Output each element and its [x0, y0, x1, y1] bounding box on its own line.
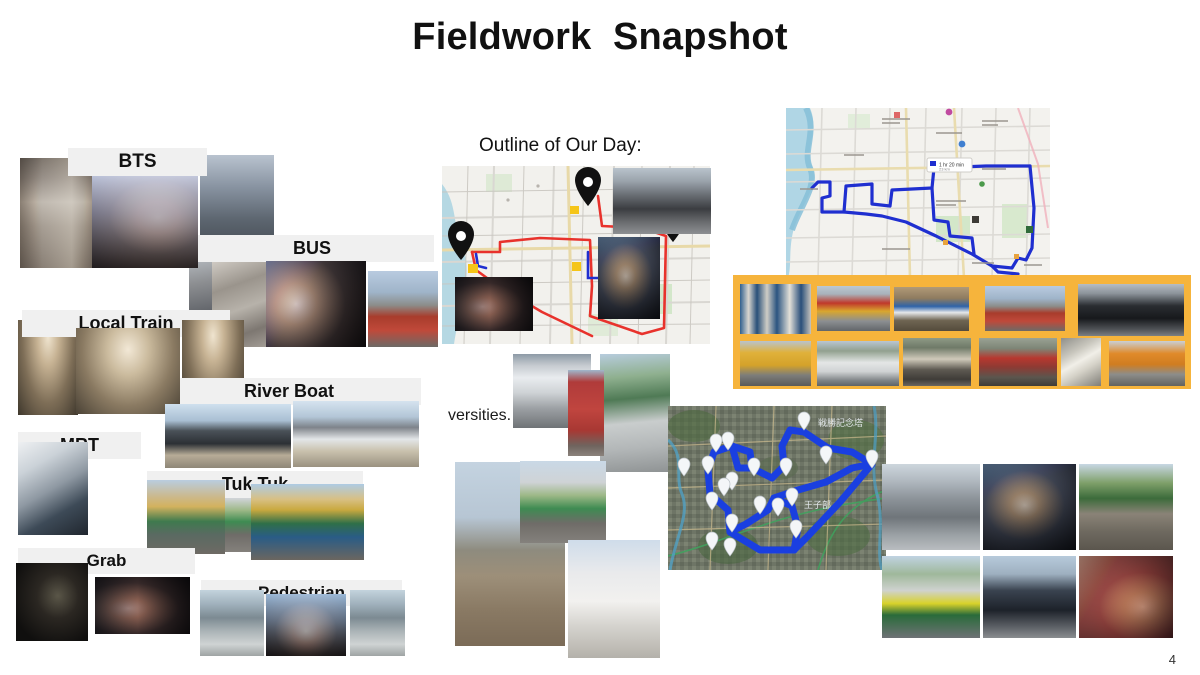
poster-photo-9	[979, 338, 1057, 386]
photo-route-motorbike	[598, 237, 660, 319]
grid-photo-r1c2	[983, 464, 1076, 550]
satellite-annotation-2: 王子部	[804, 499, 831, 511]
poster-photo-3	[894, 287, 969, 331]
bangkok-route-map-graphic: 1 hr 20 min 23 km	[786, 108, 1050, 278]
grid-photo-r2c2	[983, 556, 1076, 638]
photo-route-tuktuk	[455, 277, 533, 331]
photo-pedestrian-bridge	[350, 590, 405, 656]
bangkok-route-map: 1 hr 20 min 23 km	[786, 108, 1050, 278]
poster-photo-8	[903, 338, 971, 386]
photo-pedestrian-skywalk	[200, 590, 264, 656]
photo-bus-selfie	[266, 261, 366, 347]
satellite-route-map-graphic: 戦勝記念塔 王子部	[668, 406, 886, 570]
satellite-route-map: 戦勝記念塔 王子部	[668, 406, 886, 570]
photo-grab-night	[16, 563, 88, 641]
text-fragment: versities.	[448, 407, 511, 425]
label-bus: BUS	[190, 235, 434, 262]
poster-photo-5	[1078, 284, 1184, 336]
photo-center-tukpark	[520, 461, 606, 543]
label-river-boat-text: River Boat	[244, 381, 334, 402]
vehicle-type-poster	[733, 275, 1191, 389]
poster-photo-7	[817, 341, 899, 386]
poster-photo-6	[740, 341, 811, 386]
photo-center-gate	[568, 540, 660, 658]
grid-photo-r2c1	[882, 556, 980, 638]
label-bus-text: BUS	[293, 238, 331, 259]
label-bts: BTS	[68, 148, 207, 176]
satellite-annotation-1: 戦勝記念塔	[818, 417, 863, 429]
page-title: Fieldwork Snapshot	[0, 16, 1200, 59]
duration-badge: 1 hr 20 min 23 km	[927, 158, 972, 172]
photo-center-redwall	[568, 370, 604, 456]
grid-photo-r2c3	[1079, 556, 1173, 638]
poster-photo-4	[985, 286, 1065, 331]
photo-riverboat-left	[165, 404, 291, 468]
photo-grab-riders	[95, 577, 190, 634]
label-bts-text: BTS	[119, 151, 157, 173]
photo-bts-selfie	[92, 176, 198, 268]
label-grab-text: Grab	[87, 551, 127, 571]
slide-canvas: Fieldwork Snapshot BTS BUS Local Train R…	[0, 0, 1200, 675]
grid-photo-r1c3	[1079, 464, 1173, 550]
poster-photo-2	[817, 286, 890, 331]
grid-photo-r1c1	[882, 464, 980, 550]
poster-photo-1	[740, 284, 811, 334]
photo-bus-red	[368, 271, 438, 347]
photo-route-station	[613, 168, 711, 234]
photo-center-bridge	[600, 354, 670, 472]
poster-photo-11	[1109, 341, 1185, 386]
outline-caption: Outline of Our Day:	[479, 135, 642, 157]
poster-photo-10	[1061, 338, 1101, 386]
photo-pedestrian-selfie	[266, 594, 346, 656]
photo-mrt-gate	[18, 442, 88, 535]
photo-localtrain-hall	[76, 328, 180, 414]
photo-tuktuk-driver	[251, 484, 364, 560]
page-number: 4	[1169, 652, 1176, 667]
photo-riverboat-right	[293, 401, 419, 467]
svg-text:23 km: 23 km	[939, 167, 951, 172]
photo-tuktuk-street	[147, 480, 225, 554]
